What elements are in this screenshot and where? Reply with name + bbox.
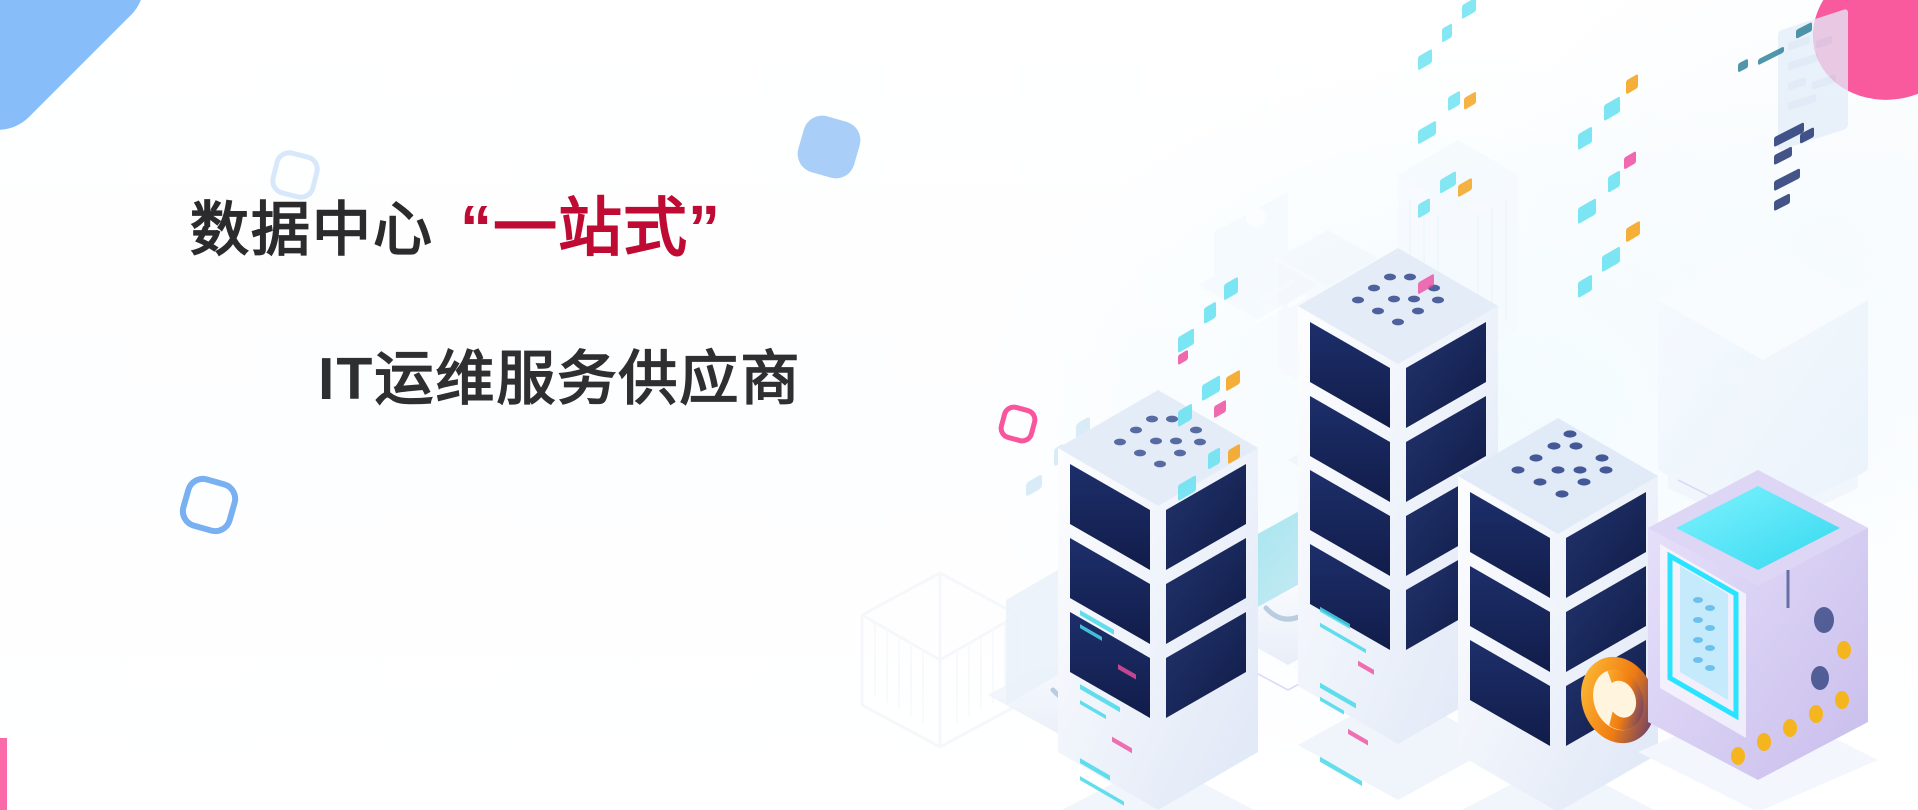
decor-ring-blue-icon xyxy=(176,472,243,539)
decor-ring-top-left-icon xyxy=(267,147,323,203)
hero-banner: 数据中心 “一站式” IT运维服务供应商 xyxy=(0,0,1918,810)
isometric-illustration xyxy=(858,0,1918,810)
headline-red-text: “一站式” xyxy=(460,196,721,260)
server-rack-front-left xyxy=(1058,277,1258,810)
decor-square-top-icon xyxy=(793,111,865,183)
corner-blue-shape xyxy=(0,0,162,148)
headline-dark-text: 数据中心 xyxy=(190,201,434,260)
edge-accent-bar xyxy=(0,738,7,810)
